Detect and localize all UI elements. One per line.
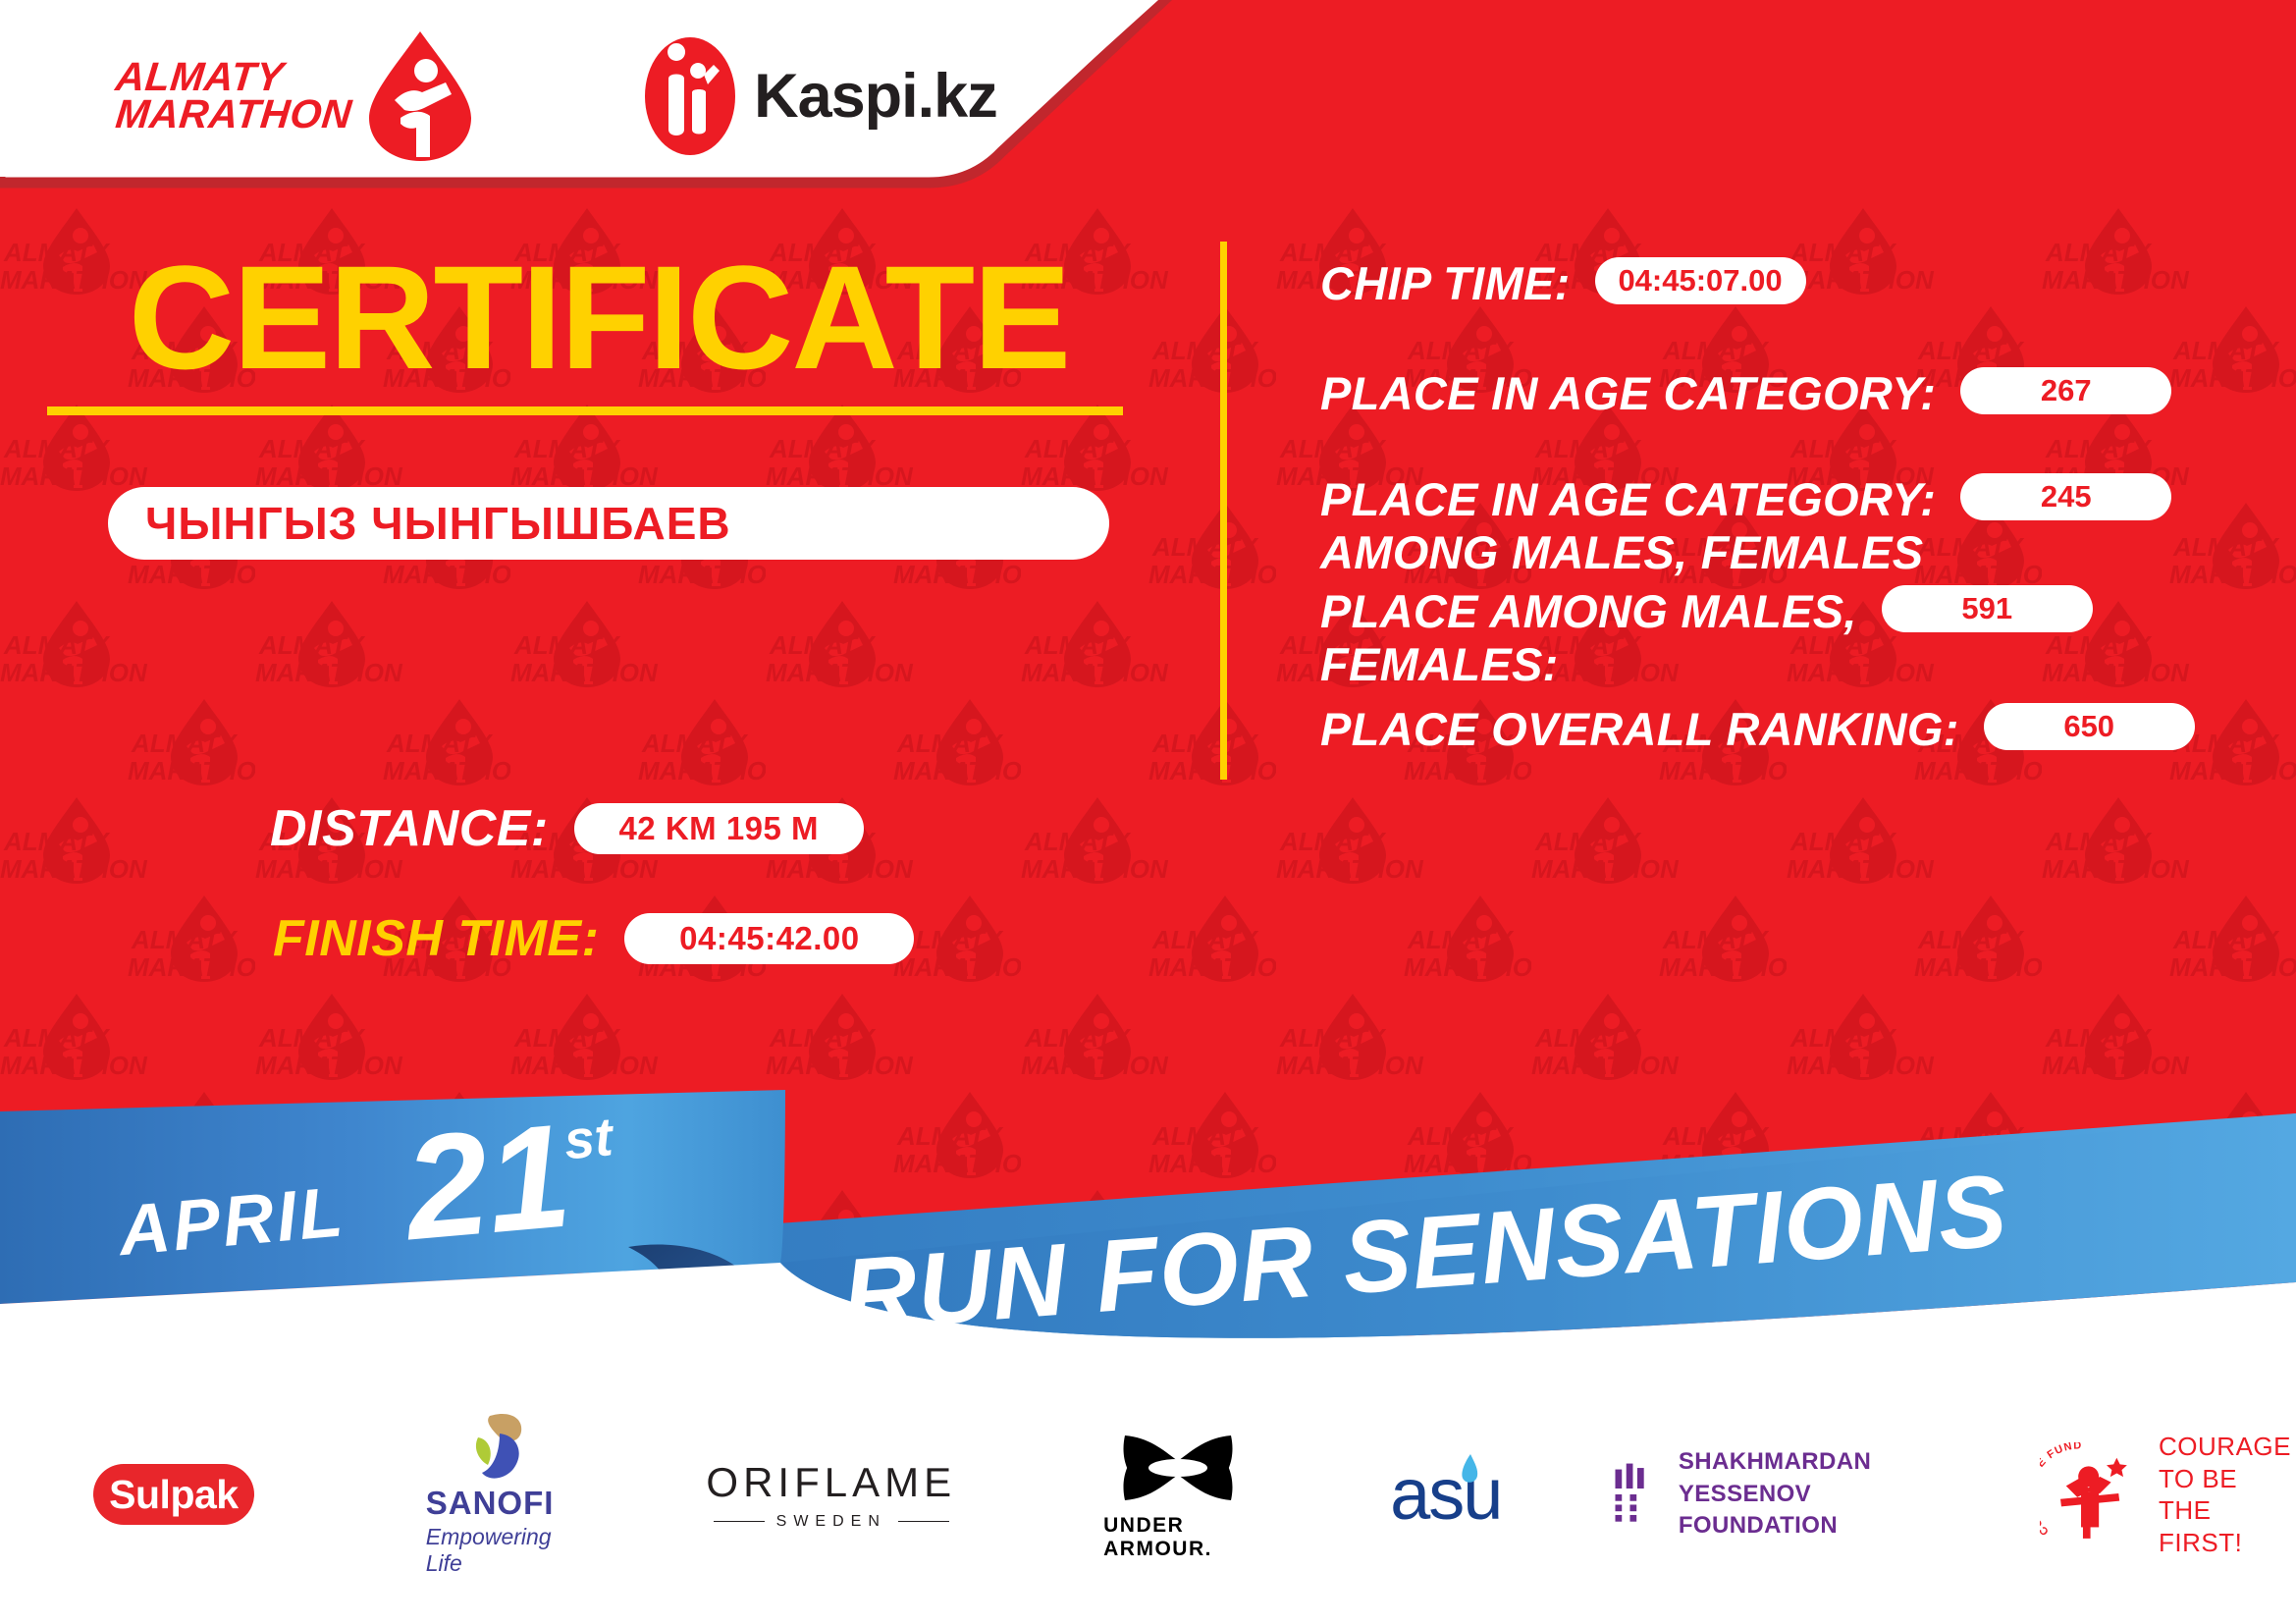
place-among-gender-value-pill: 591 [1882, 585, 2093, 632]
oriflame-sub: SWEDEN [706, 1513, 956, 1531]
under-armour-wordmark: UNDER ARMOUR. [1103, 1514, 1253, 1561]
certificate-title: CERTIFICATE [59, 244, 1139, 391]
result-row-place-age-category: PLACE IN AGE CATEGORY: 267 [1320, 367, 2171, 420]
yessenov-bars-icon [1614, 1453, 1656, 1536]
yessenov-line1: SHAKHMARDAN YESSENOV [1679, 1446, 1927, 1510]
sulpak-wordmark: Sulpak [109, 1472, 238, 1518]
svg-text:st: st [561, 1106, 617, 1170]
result-row-place-overall: PLACE OVERALL RANKING: 650 [1320, 703, 2195, 756]
place-age-category-value-pill: 267 [1960, 367, 2171, 414]
distance-value: 42 KM 195 M [618, 810, 819, 847]
place-overall-value-pill: 650 [1984, 703, 2195, 750]
header: ALMATY MARATHON [0, 0, 2296, 192]
yessenov-wordmark: SHAKHMARDAN YESSENOV FOUNDATION [1679, 1446, 1927, 1542]
almaty-marathon-line2: MARATHON [114, 96, 353, 134]
asu-droplet-icon [1456, 1452, 1481, 1491]
place-age-category-gender-label-line2: AMONG MALES, FEMALES [1320, 526, 1936, 579]
courage-runner-icon: CORPORATE FUND [2040, 1442, 2145, 1546]
place-age-category-gender-value: 245 [2041, 479, 2092, 514]
courage-line1: COURAGE [2159, 1431, 2296, 1463]
result-row-chip-time: CHIP TIME: 04:45:07.00 [1320, 257, 1806, 310]
chip-time-value-pill: 04:45:07.00 [1595, 257, 1806, 304]
place-age-category-gender-label-line1: PLACE IN AGE CATEGORY: [1320, 473, 1936, 526]
sponsor-logo-asu: asu [1390, 1458, 1481, 1531]
place-age-category-value: 267 [2041, 373, 2092, 408]
finish-time-label: FINISH TIME: [273, 909, 599, 968]
oriflame-rule-right [898, 1521, 949, 1522]
sponsor-logo-sanofi: SANOFI Empowering Life [426, 1412, 555, 1577]
place-age-category-gender-value-pill: 245 [1960, 473, 2171, 520]
place-age-category-gender-label: PLACE IN AGE CATEGORY: AMONG MALES, FEMA… [1320, 473, 1936, 578]
sanofi-wordmark: SANOFI [426, 1485, 555, 1522]
sponsor-logo-under-armour: UNDER ARMOUR. [1103, 1428, 1253, 1561]
place-overall-value: 650 [2063, 709, 2114, 744]
athlete-name-field: ЧЫНГЫЗ ЧЫНГЫШБАЕВ [108, 487, 1109, 560]
oriflame-sub-label: SWEDEN [776, 1513, 886, 1531]
sponsor-logo-yessenov-foundation: SHAKHMARDAN YESSENOV FOUNDATION [1614, 1446, 1927, 1542]
svg-text:21: 21 [396, 1092, 576, 1271]
almaty-marathon-logo: ALMATY MARATHON [116, 27, 479, 165]
sanofi-tagline: Empowering Life [426, 1524, 555, 1577]
left-column: CERTIFICATE ЧЫНГЫЗ ЧЫНГЫШБАЕВ DISTANCE: … [0, 192, 1212, 1115]
place-among-gender-label: PLACE AMONG MALES, FEMALES: [1320, 585, 1857, 690]
sponsor-logo-oriflame: ORIFLAME SWEDEN [706, 1459, 956, 1531]
chip-time-value: 04:45:07.00 [1618, 263, 1782, 298]
finish-time-row: FINISH TIME: 04:45:42.00 [273, 909, 914, 968]
yessenov-line2: FOUNDATION [1679, 1510, 1927, 1542]
certificate-page: ALMATY MARATHON [0, 0, 2296, 1624]
distance-row: DISTANCE: 42 KM 195 M [270, 799, 864, 858]
vertical-divider [1220, 242, 1227, 780]
place-among-gender-label-line1: PLACE AMONG MALES, [1320, 585, 1857, 638]
kaspi-people-icon [643, 35, 737, 157]
header-logos: ALMATY MARATHON [0, 0, 1227, 192]
result-row-place-among-gender: PLACE AMONG MALES, FEMALES: 591 [1320, 585, 2093, 690]
finish-time-value: 04:45:42.00 [679, 920, 859, 957]
title-divider [47, 406, 1123, 415]
courage-line2: TO BE [2159, 1463, 2296, 1495]
courage-wordmark: COURAGE TO BE THE FIRST! [2159, 1431, 2296, 1558]
oriflame-rule-left [714, 1521, 765, 1522]
place-overall-label: PLACE OVERALL RANKING: [1320, 703, 1959, 756]
sponsor-logo-sulpak: Sulpak [93, 1464, 254, 1525]
chip-time-label: CHIP TIME: [1320, 257, 1571, 310]
place-age-category-label: PLACE IN AGE CATEGORY: [1320, 367, 1936, 420]
athlete-name-value: ЧЫНГЫЗ ЧЫНГЫШБАЕВ [145, 497, 731, 550]
place-among-gender-value: 591 [1961, 591, 2012, 626]
distance-label: DISTANCE: [270, 799, 549, 858]
courage-line3: THE FIRST! [2159, 1494, 2296, 1558]
kaspi-wordmark: Kaspi.kz [754, 61, 997, 132]
asu-wordmark: asu [1390, 1458, 1501, 1531]
under-armour-icon [1115, 1428, 1241, 1508]
body-area: CERTIFICATE ЧЫНГЫЗ ЧЫНГЫШБАЕВ DISTANCE: … [0, 192, 2296, 1115]
sponsor-strip: Sulpak SANOFI Empowering Life ORIFLAME S… [0, 1365, 2296, 1624]
kaspi-logo: Kaspi.kz [643, 35, 997, 157]
finish-time-value-pill: 04:45:42.00 [624, 913, 914, 964]
almaty-marathon-wordmark: ALMATY MARATHON [116, 59, 351, 133]
results-column: CHIP TIME: 04:45:07.00 PLACE IN AGE CATE… [1227, 192, 2296, 1115]
runner-teardrop-icon [361, 27, 479, 165]
oriflame-wordmark: ORIFLAME [706, 1459, 956, 1506]
result-row-place-age-category-gender: PLACE IN AGE CATEGORY: AMONG MALES, FEMA… [1320, 473, 2171, 578]
sanofi-bird-icon [445, 1412, 535, 1485]
place-among-gender-label-line2: FEMALES: [1320, 638, 1857, 691]
sponsor-logo-courage-to-be-the-first: CORPORATE FUND COURAGE TO BE THE FIRST! [2040, 1431, 2296, 1558]
distance-value-pill: 42 KM 195 M [574, 803, 864, 854]
